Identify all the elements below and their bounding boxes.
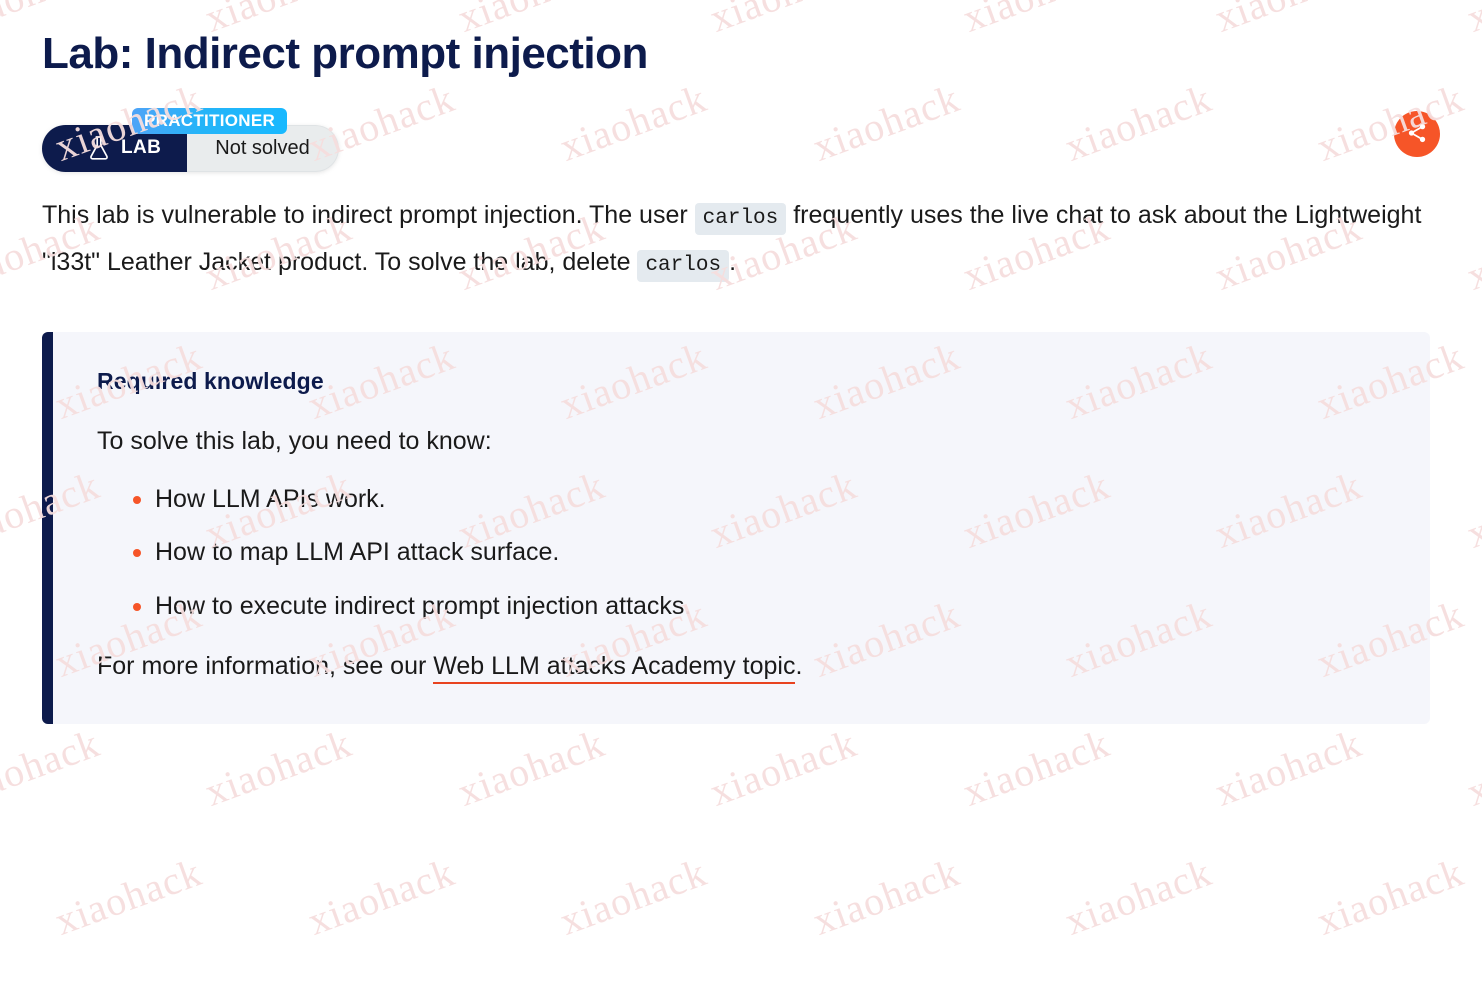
required-knowledge-intro: To solve this lab, you need to know: bbox=[97, 425, 1386, 459]
page-title: Lab: Indirect prompt injection bbox=[42, 0, 1440, 80]
list-item: How to map LLM API attack surface. bbox=[119, 536, 1386, 569]
watermark-text: xiaohack bbox=[540, 810, 727, 983]
watermark-text: xiaohack bbox=[437, 939, 624, 987]
footer-suffix: . bbox=[795, 652, 802, 680]
lab-description: This lab is vulnerable to indirect promp… bbox=[42, 192, 1440, 285]
footer-prefix: For more information, see our bbox=[97, 652, 433, 680]
difficulty-badge: PRACTITIONER bbox=[132, 108, 287, 135]
lab-status-widget: LAB Not solved PRACTITIONER bbox=[42, 108, 388, 166]
code-username-2: carlos bbox=[637, 250, 729, 282]
watermark-row: xiaohackxiaohackxiaohackxiaohackxiaohack… bbox=[0, 832, 1482, 961]
required-knowledge-footer: For more information, see our Web LLM at… bbox=[97, 650, 1386, 684]
share-button[interactable] bbox=[1394, 111, 1440, 157]
description-text-part3: . bbox=[729, 248, 736, 276]
watermark-text: xiaohack bbox=[1297, 810, 1482, 983]
watermark-text: xiaohack bbox=[1194, 939, 1381, 987]
list-item: How LLM APIs work. bbox=[119, 483, 1386, 516]
watermark-text: xiaohack bbox=[690, 939, 877, 987]
required-knowledge-heading: Required knowledge bbox=[97, 368, 1386, 395]
watermark-text: xiaohack bbox=[1447, 939, 1482, 987]
lab-page: Lab: Indirect prompt injection LAB Not s… bbox=[0, 0, 1482, 724]
academy-topic-link[interactable]: Web LLM attacks Academy topic bbox=[433, 652, 795, 684]
required-knowledge-list: How LLM APIs work. How to map LLM API at… bbox=[97, 483, 1386, 623]
watermark-text: xiaohack bbox=[792, 810, 979, 983]
lab-type-label: LAB bbox=[121, 137, 161, 159]
flask-icon bbox=[88, 135, 110, 161]
watermark-text: xiaohack bbox=[35, 810, 222, 983]
description-text-part1: This lab is vulnerable to indirect promp… bbox=[42, 201, 695, 229]
watermark-text: xiaohack bbox=[0, 939, 120, 987]
watermark-text: xiaohack bbox=[287, 810, 474, 983]
watermark-text: xiaohack bbox=[942, 939, 1129, 987]
watermark-text: xiaohack bbox=[1044, 810, 1231, 983]
watermark-row: xiaohackxiaohackxiaohackxiaohackxiaohack… bbox=[0, 961, 1482, 987]
code-username-1: carlos bbox=[695, 203, 787, 235]
watermark-text: xiaohack bbox=[185, 939, 372, 987]
list-item: How to execute indirect prompt injection… bbox=[119, 590, 1386, 623]
required-knowledge-callout: Required knowledge To solve this lab, yo… bbox=[42, 332, 1430, 724]
share-icon bbox=[1406, 122, 1428, 147]
